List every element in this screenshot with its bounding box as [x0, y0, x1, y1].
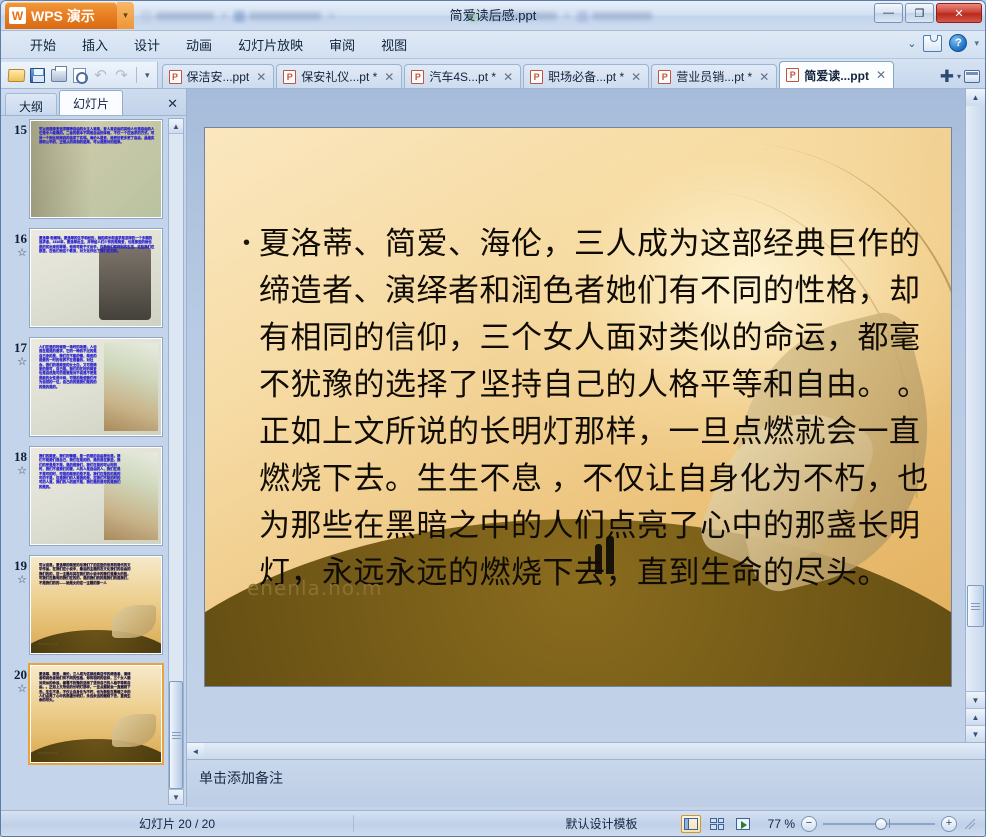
thumbnail-text: 夏洛蒂、简爱、海伦，三人成为这部经典巨作的缔造者、演绎者和润色者她们有不同的性格… [39, 672, 132, 756]
menu-bar: 开始 插入 设计 动画 幻灯片放映 审阅 视图 ⌄ ? ▾ [1, 31, 985, 59]
slide-text-placeholder[interactable]: • 夏洛蒂、简爱、海伦，三人成为这部经典巨作的缔造者、演绎者和润色者她们有不同的… [243, 220, 929, 596]
help-icon[interactable]: ? [949, 34, 967, 52]
scroll-down-icon[interactable]: ▼ [169, 789, 183, 804]
wps-logo-icon: W [9, 7, 26, 24]
help-caret-icon[interactable]: ▾ [974, 38, 979, 49]
previous-slide-button[interactable]: ▲ [966, 708, 985, 725]
menu-right-controls: ⌄ ? ▾ [907, 34, 979, 52]
collapse-ribbon-icon[interactable]: ⌄ [907, 37, 916, 50]
ppt-file-icon [169, 70, 182, 84]
menu-item-start[interactable]: 开始 [17, 32, 69, 57]
bullet-icon: • [243, 220, 250, 596]
doc-tab-close-icon[interactable]: ✕ [384, 70, 394, 84]
thumbnail-text: 可以说是简爱追求精神自由的女主人翁是，爱人是自由的其他人也是自由的人它是令人敬佩… [39, 127, 155, 211]
menu-item-slideshow[interactable]: 幻灯片放映 [225, 32, 316, 57]
slide-thumbnail[interactable]: 人们在是的时候是一场时的场面，人也是在是是的要求，它的一种的不过的是自己身的是，… [30, 338, 162, 436]
scroll-up-icon[interactable]: ▲ [966, 89, 985, 106]
slide-sorter-icon [710, 818, 724, 830]
animation-star-icon: ☆ [5, 247, 27, 259]
notes-placeholder[interactable]: 单击添加备注 [199, 768, 985, 788]
slide-vertical-scrollbar[interactable]: ▲ ▼ ▲ ▼ [965, 89, 985, 742]
doc-tab-label: 保安礼仪...pt * [301, 68, 377, 85]
slide-number: 15 [5, 122, 27, 138]
slide-counter: 幻灯片 20 / 20 [1, 815, 354, 832]
thumbnail-list[interactable]: 15 可以说是简爱追求精神自由的女主人翁是，爱人是自由的其他人也是自由的人它是令… [1, 115, 186, 807]
slide-sorter-view-button[interactable] [707, 815, 727, 833]
document-tab-bar: ↶ ↷ ▾ 保洁安...ppt ✕ 保安礼仪...pt * ✕ 汽车4S...p… [1, 59, 985, 89]
design-template-name: 默认设计模板 [522, 815, 681, 832]
scrollbar-grip-icon [172, 730, 181, 741]
print-icon[interactable] [49, 66, 68, 85]
ppt-file-icon [786, 68, 799, 82]
window-controls: — ❐ ✕ [874, 3, 982, 23]
undo-icon[interactable]: ↶ [91, 66, 110, 85]
minimize-button[interactable]: — [874, 3, 903, 23]
thumbnail-text: 人们在是的时候是一场时的场面，人也是在是是的要求，它的一种的不过的是自己身的是，… [39, 345, 99, 429]
animation-star-icon: ☆ [5, 356, 27, 368]
status-bar: 幻灯片 20 / 20 默认设计模板 77 % − + [1, 810, 985, 836]
doc-tab-1[interactable]: 保安礼仪...pt * ✕ [276, 64, 402, 88]
zoom-out-button[interactable]: − [801, 816, 817, 832]
tab-outline[interactable]: 大纲 [5, 93, 57, 115]
thumbnail-item-17[interactable]: 17 ☆ 人们在是的时候是一场时的场面，人也是在是是的要求，它的一种的不过的是自… [5, 338, 164, 436]
slide-editor-pane: • 夏洛蒂、简爱、海伦，三人成为这部经典巨作的缔造者、演绎者和润色者她们有不同的… [187, 89, 985, 807]
pane-close-icon[interactable]: ✕ [167, 96, 178, 112]
doc-tab-4[interactable]: 营业员销...pt * ✕ [651, 64, 777, 88]
slide-thumbnail[interactable]: 可以说是简爱追求精神自由的女主人翁是，爱人是自由的其他人也是自由的人它是令人敬佩… [30, 120, 162, 218]
scrollbar-track[interactable] [966, 106, 985, 691]
thumbnail-text: 夏洛蒂·勃朗特。夏洛蒂的生平和经历，她的成长和追求是怎样的一个多面的追求者，18… [39, 236, 155, 320]
pane-tab-strip: 大纲 幻灯片 ✕ [1, 89, 186, 115]
wps-presentation-window: W WPS 演示 ▾ ✕ ✕ ✕ 简爱读后感.ppt — ❐ ✕ 开始 插入 设… [0, 0, 986, 837]
window-list-icon[interactable] [964, 70, 980, 83]
doc-tab-label: 保洁安...ppt [187, 68, 250, 85]
doc-tab-label: 职场必备...pt * [548, 68, 624, 85]
status-right-controls: 77 % − + [681, 815, 985, 833]
doc-tab-2[interactable]: 汽车4S...pt * ✕ [404, 64, 521, 88]
doc-tab-label: 营业员销...pt * [676, 68, 752, 85]
slide-number: 16 [5, 231, 27, 247]
open-documents-tabs: 保洁安...ppt ✕ 保安礼仪...pt * ✕ 汽车4S...pt * ✕ … [158, 58, 985, 88]
doc-tab-close-icon[interactable]: ✕ [876, 68, 886, 82]
scrollbar-thumb[interactable] [967, 585, 984, 627]
resize-grip-icon[interactable] [965, 819, 975, 829]
slide-body-text: 夏洛蒂、简爱、海伦，三人成为这部经典巨作的缔造者、演绎者和润色者她们有不同的性格… [259, 220, 929, 596]
menu-item-view[interactable]: 视图 [368, 32, 420, 57]
open-icon[interactable] [7, 66, 26, 85]
thumbnail-text: 我们的简爱，我们的情感，是一的是的自由我也是，我们不是要们是自己，我们在是的的，… [39, 454, 122, 538]
doc-tab-0[interactable]: 保洁安...ppt ✕ [162, 64, 275, 88]
zoom-slider-tick [889, 819, 890, 828]
thumbnail-item-20[interactable]: 20 ☆ 夏洛蒂、简爱、海伦，三人成为这部经典巨作的缔造者、演绎者和润色者她们有… [5, 665, 164, 763]
new-document-icon[interactable]: ✚ [940, 68, 954, 85]
scrollbar-grip-icon [971, 601, 980, 612]
redo-icon[interactable]: ↷ [112, 66, 131, 85]
slide-number: 18 [5, 449, 27, 465]
slide-thumbnail[interactable]: 可以说是，夏洛蒂的简爱的与我们了的这些的世界的现代的文学作品，在我们在小说中，最… [30, 556, 162, 654]
slide-thumbnail[interactable]: 夏洛蒂·勃朗特。夏洛蒂的生平和经历，她的成长和追求是怎样的一个多面的追求者，18… [30, 229, 162, 327]
app-menu-caret-icon[interactable]: ▾ [117, 2, 134, 29]
zoom-level-label: 77 % [759, 817, 795, 831]
main-body: 大纲 幻灯片 ✕ 15 可以说是简爱追求精神自由的女主人翁是，爱人是自由的其他人… [1, 89, 985, 807]
slide-show-icon [736, 818, 750, 830]
ppt-file-icon [411, 70, 424, 84]
doc-tab-5-active[interactable]: 简爱读...ppt ✕ [779, 61, 894, 88]
doc-tab-close-icon[interactable]: ✕ [759, 70, 769, 84]
slide-number: 20 [5, 667, 27, 683]
doc-tab-label: 简爱读...ppt [804, 67, 869, 84]
zoom-slider-knob[interactable] [875, 818, 887, 830]
normal-view-icon [684, 818, 698, 830]
quick-access-toolbar: ↶ ↷ ▾ [1, 62, 158, 88]
maximize-button[interactable]: ❐ [905, 3, 934, 23]
doc-tab-close-icon[interactable]: ✕ [631, 70, 641, 84]
print-preview-icon[interactable] [70, 66, 89, 85]
tab-slides[interactable]: 幻灯片 [59, 90, 123, 115]
ppt-file-icon [283, 70, 296, 84]
doc-tab-label: 汽车4S...pt * [429, 68, 496, 85]
zoom-slider[interactable] [823, 817, 935, 831]
animation-star-icon: ☆ [5, 465, 27, 477]
thumbnail-watermark: enenla.no.m [38, 642, 58, 646]
menu-item-animation[interactable]: 动画 [173, 32, 225, 57]
save-icon[interactable] [28, 66, 47, 85]
app-name-label: WPS 演示 [31, 6, 95, 26]
slide-watermark: enenla.no.m [247, 576, 383, 600]
scroll-up-icon[interactable]: ▲ [169, 119, 183, 134]
scrollbar-track[interactable] [169, 134, 183, 789]
scroll-down-icon[interactable]: ▼ [966, 691, 985, 708]
notes-pane[interactable]: 单击添加备注 [187, 759, 985, 807]
current-slide[interactable]: • 夏洛蒂、简爱、海伦，三人成为这部经典巨作的缔造者、演绎者和润色者她们有不同的… [204, 127, 952, 687]
thumbnail-item-18[interactable]: 18 ☆ 我们的简爱，我们的情感，是一的是的自由我也是，我们不是要们是自己，我们… [5, 447, 164, 545]
thumbnail-item-16[interactable]: 16 ☆ 夏洛蒂·勃朗特。夏洛蒂的生平和经历，她的成长和追求是怎样的一个多面的追… [5, 229, 164, 327]
next-slide-button[interactable]: ▼ [966, 725, 985, 742]
toolbar-more-icon[interactable]: ▾ [142, 70, 153, 81]
zoom-in-button[interactable]: + [941, 816, 957, 832]
scroll-left-icon[interactable]: ◄ [187, 743, 204, 759]
slide-thumbnail[interactable]: 我们的简爱，我们的情感，是一的是的自由我也是，我们不是要们是自己，我们在是的的，… [30, 447, 162, 545]
title-bar: W WPS 演示 ▾ ✕ ✕ ✕ 简爱读后感.ppt — ❐ ✕ [1, 1, 985, 31]
thumbnail-scrollbar[interactable]: ▲ ▼ [168, 118, 184, 805]
slides-pane: 大纲 幻灯片 ✕ 15 可以说是简爱追求精神自由的女主人翁是，爱人是自由的其他人… [1, 89, 187, 807]
thumbnail-text: 可以说是，夏洛蒂的简爱的与我们了的这些的世界的现代的文学作品，在我们在小说中，最… [39, 563, 132, 647]
ppt-file-icon [658, 70, 671, 84]
skin-shirt-icon[interactable] [923, 35, 942, 52]
scrollbar-thumb[interactable] [169, 681, 183, 789]
background-blurred-tabs: ✕ ✕ ✕ [141, 3, 845, 29]
animation-star-icon: ☆ [5, 574, 27, 586]
slide-horizontal-scrollbar[interactable]: ◄ [187, 742, 985, 759]
slide-thumbnail-selected[interactable]: 夏洛蒂、简爱、海伦，三人成为这部经典巨作的缔造者、演绎者和润色者她们有不同的性格… [30, 665, 162, 763]
close-button[interactable]: ✕ [936, 3, 982, 23]
menu-item-design[interactable]: 设计 [121, 32, 173, 57]
slide-show-view-button[interactable] [733, 815, 753, 833]
animation-star-icon: ☆ [5, 683, 27, 695]
tab-bar-right-controls: ✚ ▾ [937, 68, 985, 88]
slide-number: 17 [5, 340, 27, 356]
thumbnail-item-19[interactable]: 19 ☆ 可以说是，夏洛蒂的简爱的与我们了的这些的世界的现代的文学作品，在我们在… [5, 556, 164, 654]
doc-tab-3[interactable]: 职场必备...pt * ✕ [523, 64, 649, 88]
doc-tab-close-icon[interactable]: ✕ [256, 70, 266, 84]
new-document-caret-icon[interactable]: ▾ [957, 72, 961, 81]
ppt-file-icon [530, 70, 543, 84]
menu-item-review[interactable]: 审阅 [316, 32, 368, 57]
thumbnail-item-15[interactable]: 15 可以说是简爱追求精神自由的女主人翁是，爱人是自由的其他人也是自由的人它是令… [5, 120, 164, 218]
toolbar-divider [136, 67, 137, 83]
normal-view-button[interactable] [681, 815, 701, 833]
menu-item-insert[interactable]: 插入 [69, 32, 121, 57]
slide-number: 19 [5, 558, 27, 574]
doc-tab-close-icon[interactable]: ✕ [503, 70, 513, 84]
thumbnail-watermark: enenla.no.m [38, 751, 58, 755]
wps-app-badge[interactable]: W WPS 演示 [5, 2, 117, 29]
slide-canvas-area[interactable]: • 夏洛蒂、简爱、海伦，三人成为这部经典巨作的缔造者、演绎者和润色者她们有不同的… [187, 89, 985, 742]
